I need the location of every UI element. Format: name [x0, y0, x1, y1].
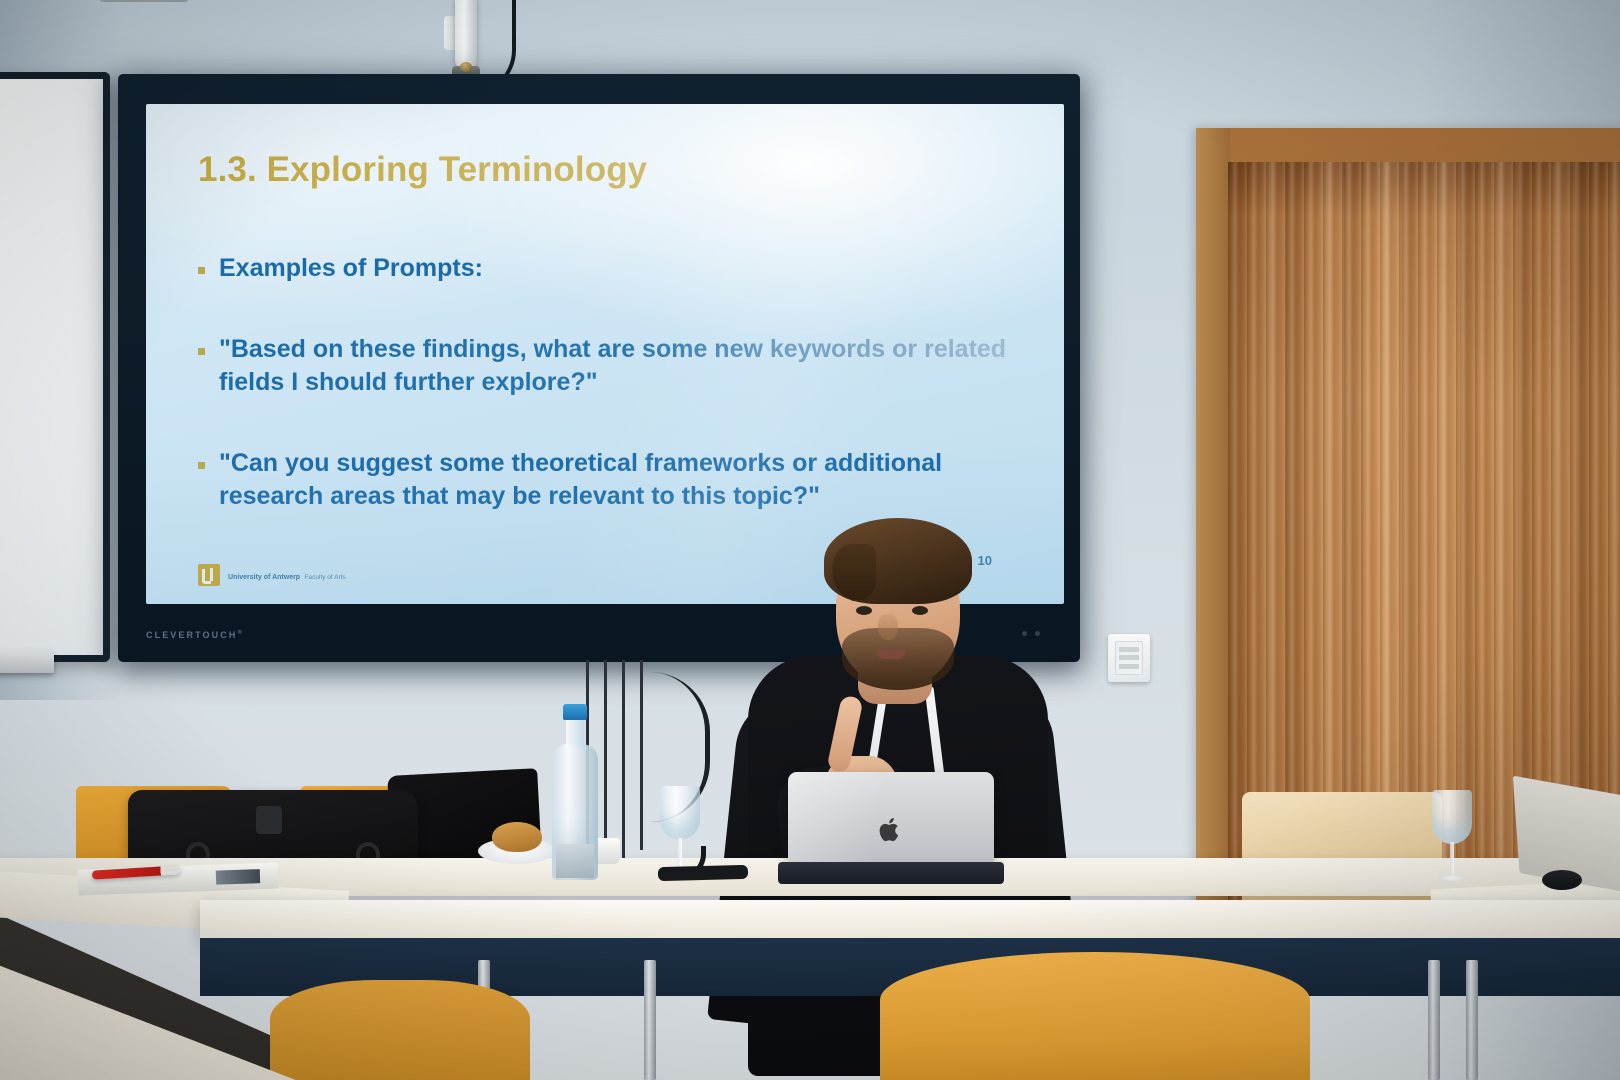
desk-cable: [622, 660, 625, 866]
slide-title: 1.3. Exploring Terminology: [198, 150, 1012, 190]
slide-bullet-text: Examples of Prompts:: [219, 252, 483, 285]
desk-cable: [658, 865, 748, 881]
mic-arm: [455, 0, 477, 68]
desk-cable: [604, 660, 607, 860]
presenter-eye: [856, 606, 872, 615]
bottle-cap[interactable]: [563, 704, 587, 720]
wall-panel-button[interactable]: [1119, 647, 1139, 652]
university-logo-icon: [198, 564, 220, 586]
door-reveal: [1196, 128, 1230, 948]
glass-bowl: [1432, 790, 1472, 844]
glass-bowl: [660, 786, 700, 840]
slide-footer: University of Antwerp Faculty of Arts: [198, 564, 346, 586]
macbook[interactable]: [788, 772, 994, 868]
wall-panel-button[interactable]: [1119, 664, 1139, 669]
bullet-marker-icon: [198, 348, 205, 355]
mouse[interactable]: [1542, 870, 1582, 890]
presenter-eye: [912, 606, 928, 615]
slide-bullet-text: "Based on these findings, what are some …: [219, 333, 1012, 399]
desk-cable: [640, 660, 643, 850]
whiteboard: [0, 72, 110, 662]
organization-name: University of Antwerp: [228, 574, 300, 581]
pastry: [492, 822, 542, 852]
orange-chair-seat[interactable]: [880, 952, 1310, 1080]
whiteboard-mount-clip: [100, 0, 188, 2]
table-leg: [1466, 960, 1478, 1080]
seminar-table-front: [200, 900, 1620, 940]
wine-glass[interactable]: [1432, 790, 1472, 886]
slide-bullet-text: "Can you suggest some theoretical framew…: [219, 447, 1012, 513]
presenter-mouth: [876, 650, 906, 659]
wall-panel-buttons[interactable]: [1115, 641, 1143, 675]
table-leg: [1428, 960, 1440, 1080]
bullet-marker-icon: [198, 267, 205, 274]
laptop-sleeve: [778, 862, 1004, 884]
glass-foot: [1438, 874, 1466, 882]
wall-control-panel[interactable]: [1108, 634, 1150, 682]
table-leg: [644, 960, 656, 1080]
bottle-body: [552, 744, 598, 880]
apple-logo-icon: [879, 816, 903, 844]
glass-stem: [1450, 842, 1454, 876]
slide-footer-text: University of Antwerp Faculty of Arts: [228, 565, 346, 585]
bottle-neck: [566, 718, 584, 748]
bullet-marker-icon: [198, 462, 205, 469]
orange-chair-seat[interactable]: [270, 980, 530, 1080]
department-name: Faculty of Arts: [305, 574, 346, 581]
bag-buckle-icon: [256, 806, 282, 834]
bottle-label: [556, 844, 594, 878]
wall-panel-button[interactable]: [1119, 655, 1139, 660]
display-brand-label: CLEVERTOUCH®: [146, 630, 244, 640]
water-bottle[interactable]: [552, 704, 598, 880]
list-item: "Can you suggest some theoretical framew…: [198, 447, 1012, 513]
slide-bullet-list: Examples of Prompts: "Based on these fin…: [198, 252, 1012, 513]
list-item: Examples of Prompts:: [198, 252, 1012, 285]
whiteboard-tray: [0, 649, 54, 673]
presenter-hair: [824, 518, 972, 604]
screenshot-scene: CLEVERTOUCH® 1.3. Exploring Terminology …: [0, 0, 1620, 1080]
presenter-beard: [842, 628, 954, 690]
list-item: "Based on these findings, what are some …: [198, 333, 1012, 399]
presenter-nose: [878, 614, 898, 640]
